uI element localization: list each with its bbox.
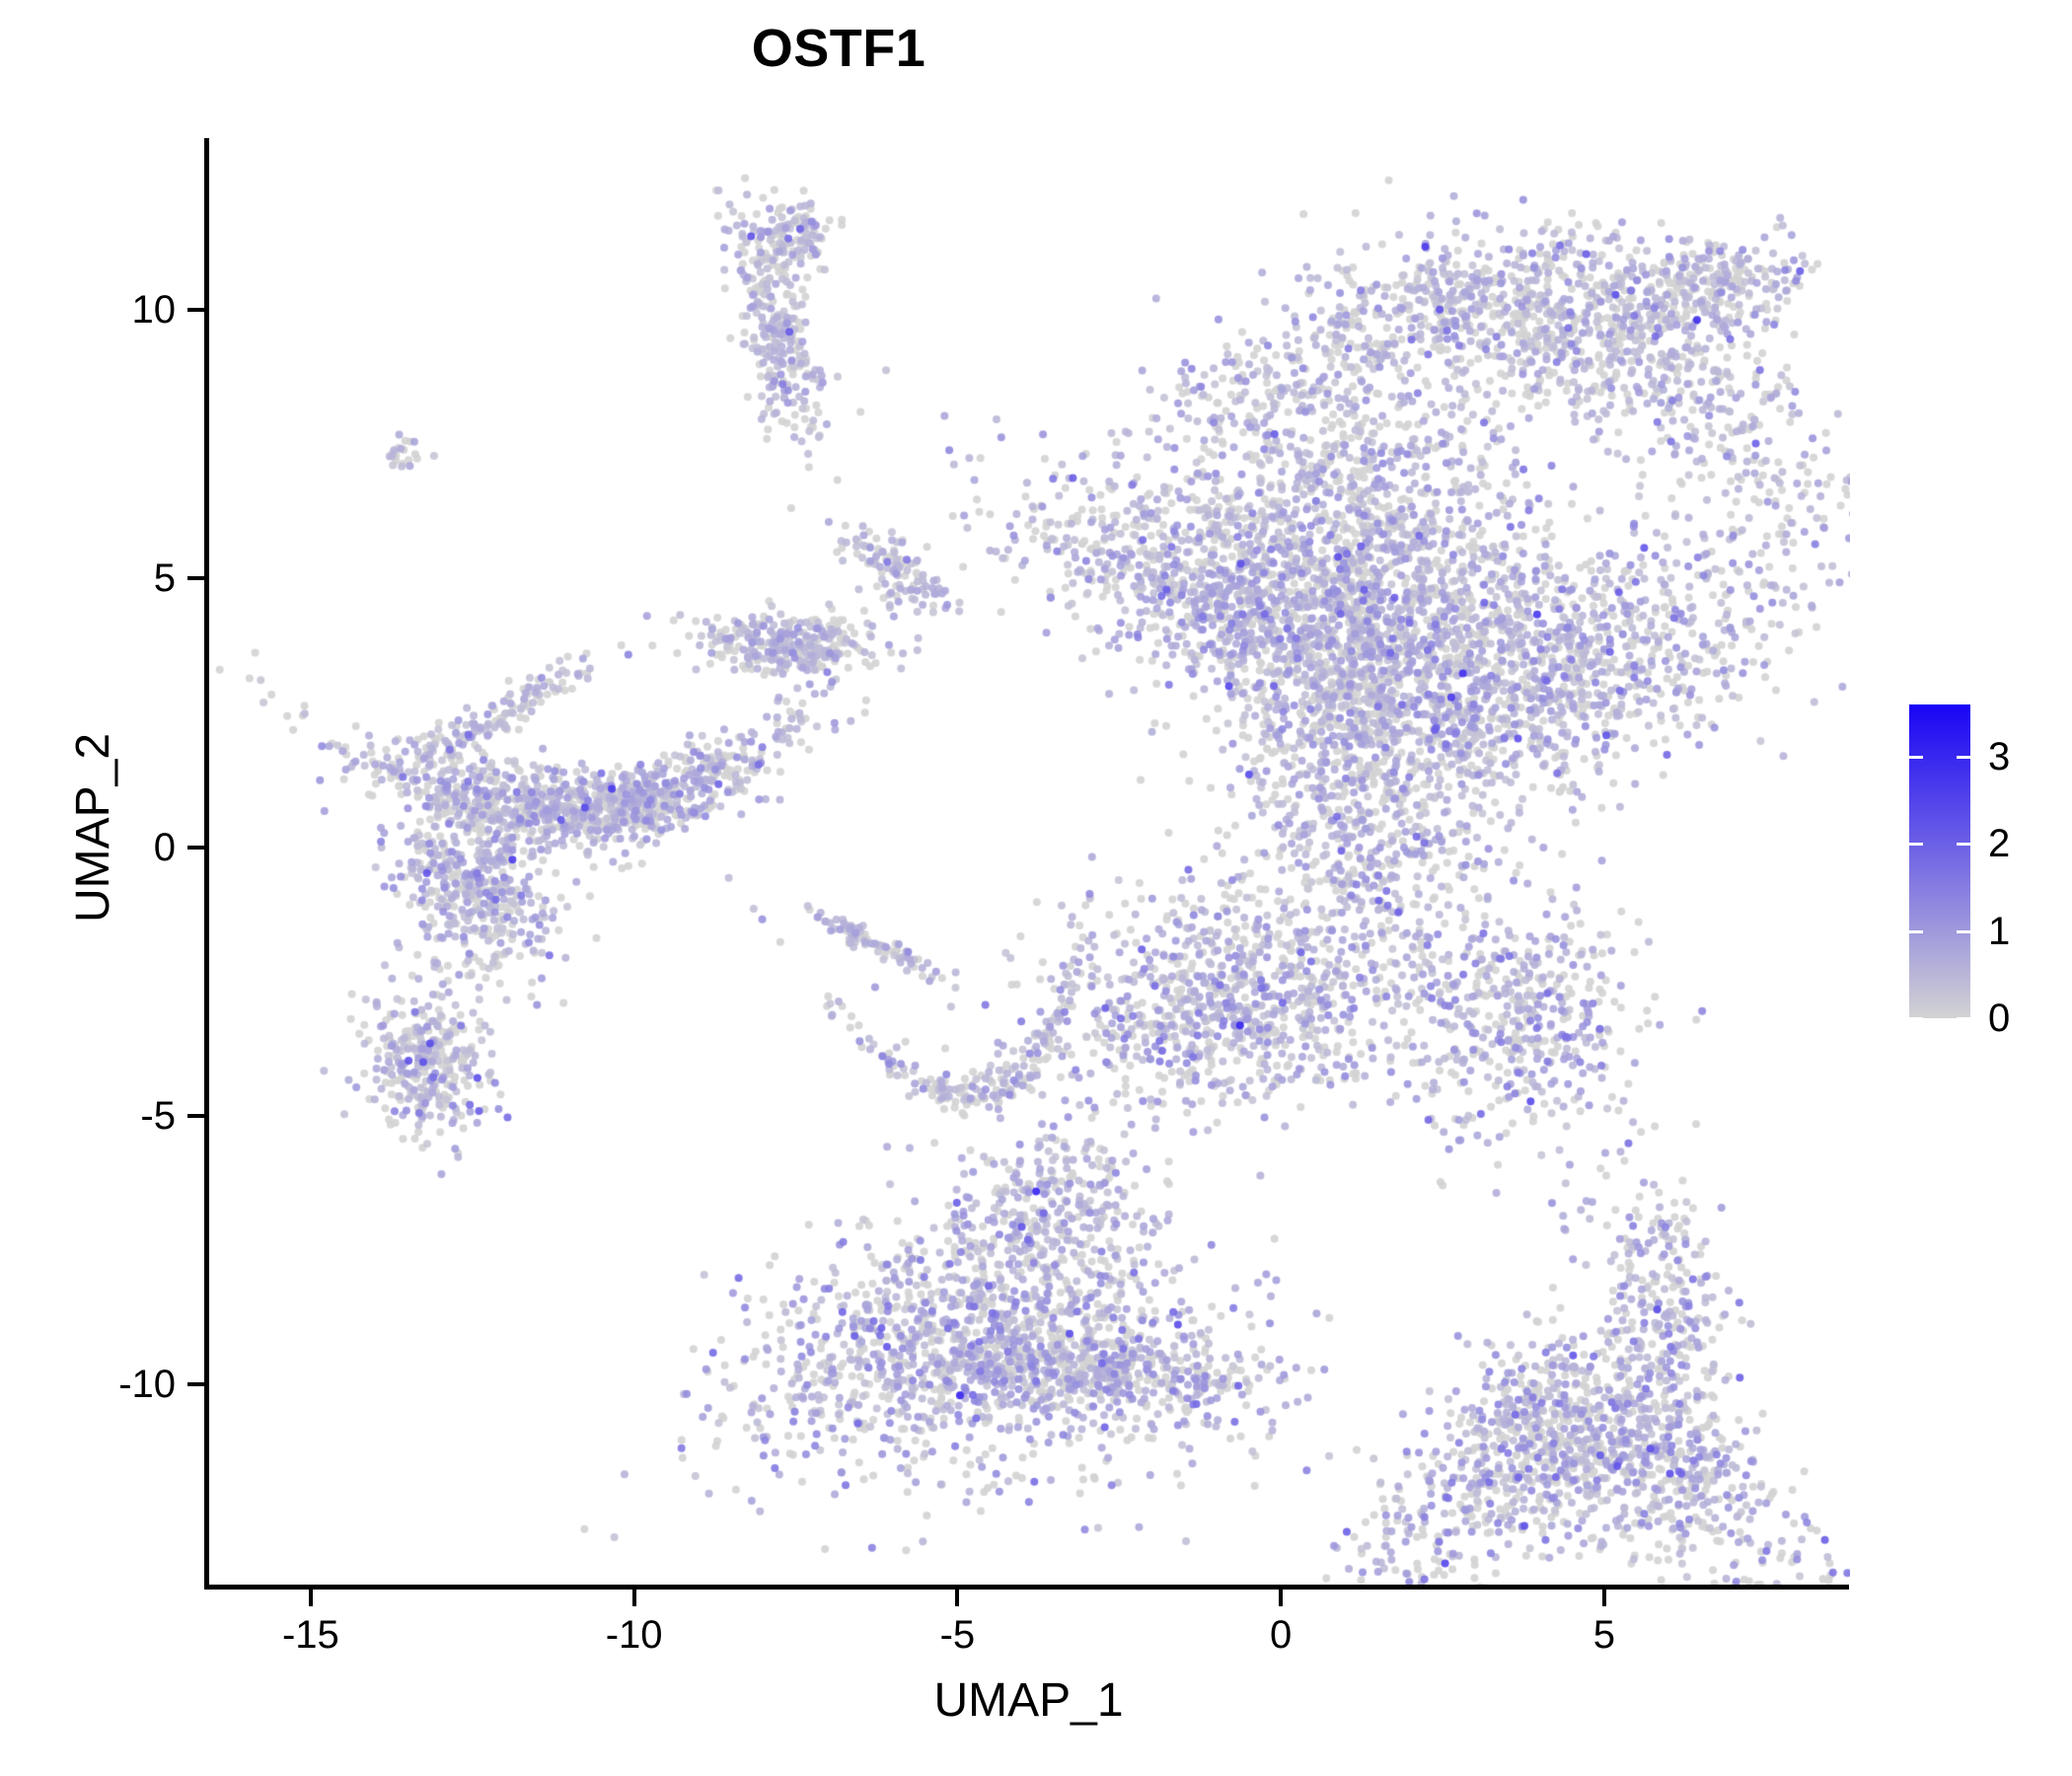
x-tick-mark <box>955 1590 959 1606</box>
y-tick-mark <box>187 1114 204 1118</box>
x-tick-label: -5 <box>940 1615 976 1655</box>
feature-plot-root: OSTF1 -15-10-505 1050-5-10 UMAP_1 UMAP_2… <box>0 0 2072 1776</box>
colorbar-tick-mark <box>1909 1017 1923 1020</box>
x-axis-title: UMAP_1 <box>207 1677 1850 1725</box>
y-tick-label: 10 <box>132 290 177 330</box>
colorbar-gradient <box>1909 704 1970 1018</box>
x-tick-label: -10 <box>606 1615 663 1655</box>
y-tick-mark <box>187 846 204 850</box>
colorbar-tick-label: 3 <box>1988 737 2010 777</box>
y-axis-line <box>204 138 209 1587</box>
colorbar-tick-label: 1 <box>1988 912 2010 951</box>
colorbar-tick-mark <box>1957 930 1970 933</box>
y-tick-label: 5 <box>154 558 176 598</box>
umap-scatter-canvas <box>207 138 1850 1589</box>
y-tick-label: -10 <box>118 1365 176 1404</box>
y-tick-mark <box>187 576 204 580</box>
y-tick-label: 0 <box>154 828 176 867</box>
colorbar-tick-mark <box>1909 930 1923 933</box>
colorbar-tick-mark <box>1909 843 1923 846</box>
y-tick-label: -5 <box>140 1096 176 1136</box>
x-tick-mark <box>1279 1590 1283 1606</box>
page-title: OSTF1 <box>0 22 1677 75</box>
y-tick-mark <box>187 308 204 312</box>
colorbar-tick-mark <box>1909 756 1923 759</box>
x-tick-mark <box>309 1590 313 1606</box>
colorbar-tick-mark <box>1957 843 1970 846</box>
x-tick-mark <box>632 1590 636 1606</box>
colorbar-tick-label: 2 <box>1988 824 2010 863</box>
x-tick-mark <box>1602 1590 1606 1606</box>
colorbar-tick-mark <box>1957 756 1970 759</box>
x-tick-label: 0 <box>1270 1615 1292 1655</box>
x-tick-label: 5 <box>1593 1615 1615 1655</box>
y-tick-mark <box>187 1382 204 1386</box>
plot-panel <box>207 138 1850 1589</box>
y-axis-title: UMAP_2 <box>70 103 117 1553</box>
colorbar-tick-mark <box>1957 1017 1970 1020</box>
colorbar-tick-label: 0 <box>1988 999 2010 1038</box>
x-tick-label: -15 <box>282 1615 339 1655</box>
colorbar-legend: 3210 <box>1909 704 2057 1020</box>
